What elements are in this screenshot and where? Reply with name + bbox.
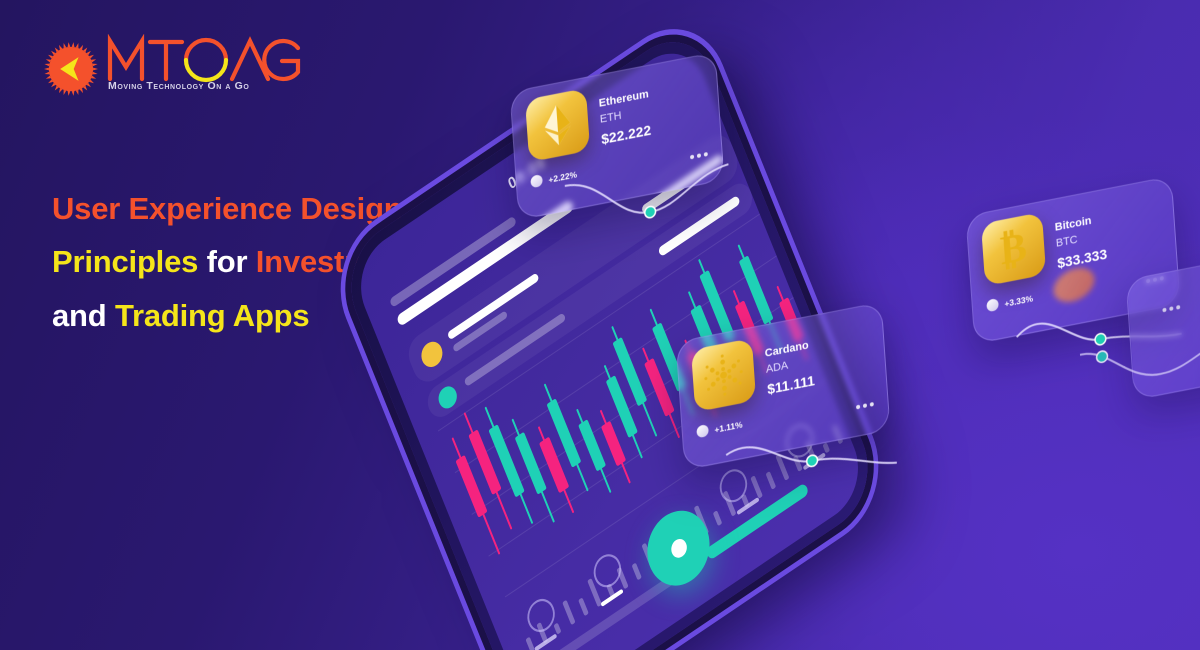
coin-name: Bitcoin xyxy=(1054,215,1091,234)
coin-price: $22.222 xyxy=(601,121,652,147)
ethereum-glyph xyxy=(543,103,571,148)
starburst-arrow-svg xyxy=(44,42,98,96)
mtoag-wordmark-svg xyxy=(106,34,302,84)
nav-label-wallet xyxy=(600,589,623,607)
headline-seg: for xyxy=(198,244,256,279)
banner-canvas: Moving Technology On a Go User Experienc… xyxy=(0,0,1200,650)
starburst-arrow-icon xyxy=(44,42,98,96)
coin-name: Cardano xyxy=(764,339,809,360)
ethereum-icon xyxy=(525,88,590,162)
coin-symbol: ADA xyxy=(766,360,789,376)
nav-icon-home[interactable] xyxy=(523,593,559,638)
headline-seg: and xyxy=(52,298,115,333)
headline-seg: Trading Apps xyxy=(115,298,310,333)
bitcoin-icon: ₿ xyxy=(981,212,1046,286)
change-indicator-dot-icon xyxy=(986,298,999,312)
nav-icon-wallet[interactable] xyxy=(589,548,625,593)
kebab-menu-icon[interactable] xyxy=(1162,305,1180,312)
brand-logo[interactable]: Moving Technology On a Go xyxy=(44,28,304,106)
nav-trade-fab-button[interactable] xyxy=(637,497,719,599)
coin-name: Ethereum xyxy=(598,88,649,110)
bitcoin-glyph: ₿ xyxy=(999,226,1028,271)
brand-tagline: Moving Technology On a Go xyxy=(108,80,249,92)
coin-symbol: BTC xyxy=(1056,234,1078,250)
cardano-glyph xyxy=(700,349,746,402)
headline-seg: Principles xyxy=(52,244,198,279)
cardano-icon xyxy=(691,338,756,412)
coin-symbol: ETH xyxy=(600,110,622,126)
coin-price: $11.111 xyxy=(767,372,816,397)
nav-label-chart xyxy=(736,497,759,515)
change-indicator-dot-icon xyxy=(530,174,543,188)
coin-price: $33.333 xyxy=(1057,245,1108,271)
nav-label-home xyxy=(534,633,557,650)
change-indicator-dot-icon xyxy=(696,424,709,438)
